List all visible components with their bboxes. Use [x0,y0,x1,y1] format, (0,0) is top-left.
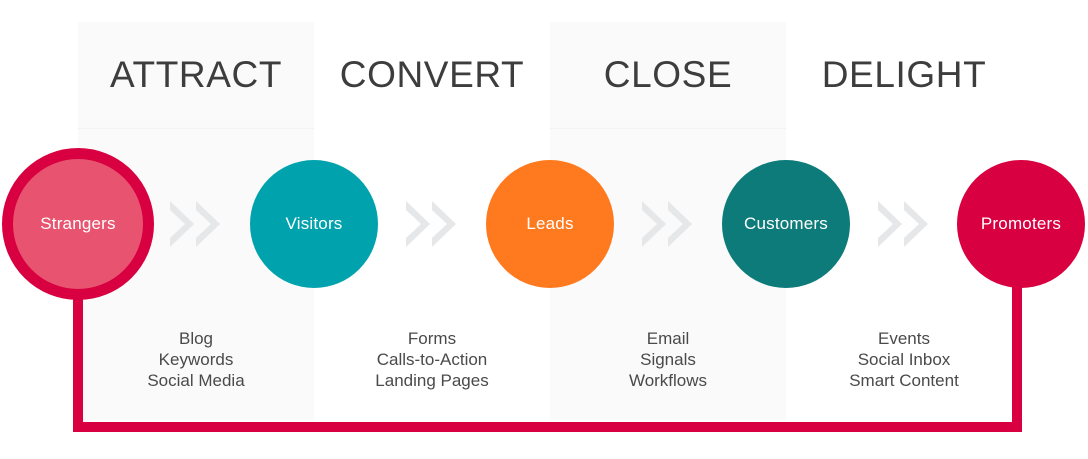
arrow-customers-to-promoters [878,201,942,247]
tool-item: Email [550,328,786,349]
tool-item: Smart Content [786,370,1022,391]
node-visitors[interactable]: Visitors [250,160,378,288]
tool-item: Social Media [78,370,314,391]
tool-list-convert: Forms Calls-to-Action Landing Pages [314,328,550,391]
arrow-leads-to-customers [642,201,706,247]
chevron-right-icon [432,201,456,247]
node-label-customers: Customers [744,214,828,234]
node-label-strangers: Strangers [40,214,116,234]
inbound-methodology-diagram: ATTRACT CONVERT CLOSE DELIGHT Strangers … [0,0,1088,459]
chevron-right-icon [406,201,430,247]
node-promoters[interactable]: Promoters [957,160,1085,288]
tool-list-delight: Events Social Inbox Smart Content [786,328,1022,391]
chevron-right-icon [668,201,692,247]
chevron-right-icon [170,201,194,247]
tool-list-close: Email Signals Workflows [550,328,786,391]
chevron-right-icon [878,201,902,247]
tool-item: Keywords [78,349,314,370]
tool-list-attract: Blog Keywords Social Media [78,328,314,391]
node-label-promoters: Promoters [981,214,1061,234]
stage-heading-convert: CONVERT [314,54,550,96]
node-label-visitors: Visitors [285,214,342,234]
stage-band-seam-attract [78,128,314,129]
chevron-right-icon [904,201,928,247]
stage-heading-attract: ATTRACT [78,54,314,96]
tool-item: Landing Pages [314,370,550,391]
node-customers[interactable]: Customers [722,160,850,288]
node-label-leads: Leads [526,214,573,234]
node-leads[interactable]: Leads [486,160,614,288]
arrow-strangers-to-visitors [170,201,234,247]
tool-item: Blog [78,328,314,349]
chevron-right-icon [196,201,220,247]
tool-item: Signals [550,349,786,370]
tool-item: Calls-to-Action [314,349,550,370]
tool-item: Social Inbox [786,349,1022,370]
chevron-right-icon [642,201,666,247]
stage-heading-delight: DELIGHT [786,54,1022,96]
arrow-visitors-to-leads [406,201,470,247]
node-strangers[interactable]: Strangers [2,148,154,300]
stage-band-seam-close [550,128,786,129]
tool-item: Events [786,328,1022,349]
tool-item: Workflows [550,370,786,391]
stage-heading-close: CLOSE [550,54,786,96]
tool-item: Forms [314,328,550,349]
